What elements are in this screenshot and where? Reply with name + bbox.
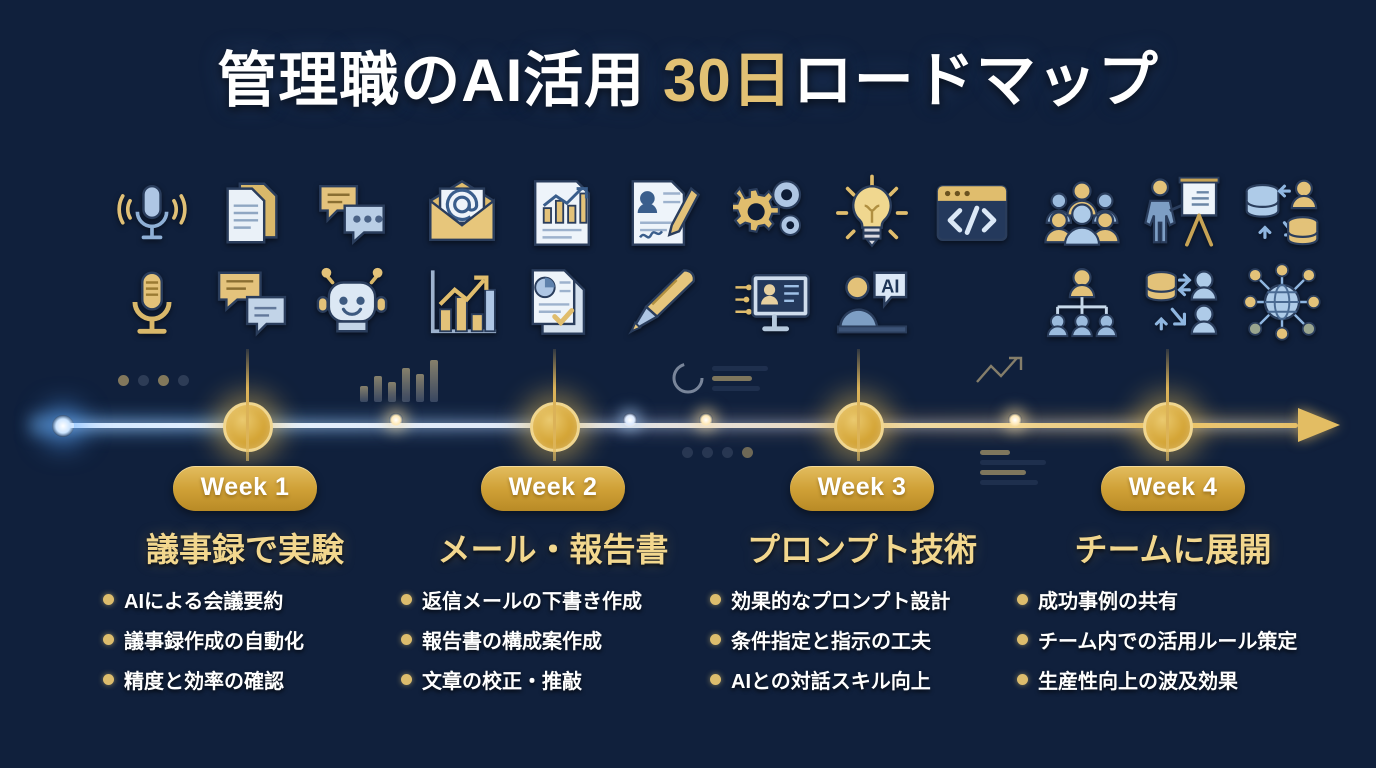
document-icon (209, 170, 295, 256)
timeline-node-week4[interactable] (1143, 402, 1193, 452)
database-user-icon (1239, 170, 1325, 256)
week-column-1: Week 1 議事録で実験 AIによる会議要約 議事録作成の自動化 精度と効率の… (85, 466, 405, 705)
list-item: 生産性向上の波及効果 (1017, 665, 1333, 694)
icon-clusters: AI (0, 168, 1376, 346)
chart-document-icon (519, 170, 605, 256)
presenter-board-icon (1139, 170, 1225, 256)
team-group-icon (1039, 170, 1125, 256)
microphone-gold-icon (109, 259, 195, 345)
week-badge-1[interactable]: Week 1 (173, 466, 318, 511)
code-window-icon (929, 170, 1015, 256)
list-item: 議事録作成の自動化 (103, 625, 405, 654)
title-part-before: 管理職のAI活用 (217, 47, 663, 114)
bullet-dot-icon (103, 634, 114, 645)
title-container: 管理職のAI活用 30日ロードマップ (0, 32, 1376, 119)
week-badge-3[interactable]: Week 3 (790, 466, 935, 511)
node-stem (857, 349, 860, 461)
bullet-dot-icon (1017, 674, 1028, 685)
bar-chart-arrow-icon (419, 259, 505, 345)
email-at-icon (419, 170, 505, 256)
deco-dots-left (118, 375, 189, 386)
week-badge-4[interactable]: Week 4 (1101, 466, 1246, 511)
svg-text:AI: AI (881, 275, 899, 296)
title-highlight: 30日 (663, 47, 793, 114)
icon-cluster-week3: AI (722, 168, 1022, 346)
timeline-spark (699, 413, 713, 427)
list-item: チーム内での活用ルール策定 (1017, 625, 1333, 654)
lightbulb-icon (829, 170, 915, 256)
list-item: 条件指定と指示の工夫 (710, 625, 1022, 654)
data-share-users-icon (1139, 259, 1225, 345)
bullet-dot-icon (401, 634, 412, 645)
node-stem (553, 349, 556, 461)
week-headline-1: 議事録で実験 (85, 523, 405, 571)
bullet-dot-icon (401, 594, 412, 605)
icon-cluster-week2 (412, 168, 712, 346)
bullet-text: 返信メールの下書き作成 (422, 585, 642, 614)
week-bullets-3: 効果的なプロンプト設計 条件指定と指示の工夫 AIとの対話スキル向上 (702, 585, 1022, 694)
week-headline-3: プロンプト技術 (702, 523, 1022, 571)
bullet-text: AIとの対話スキル向上 (731, 665, 931, 694)
node-stem (1166, 349, 1169, 461)
title-part-after: ロードマップ (793, 47, 1159, 114)
chat-bubbles-icon (309, 170, 395, 256)
bullet-text: AIによる会議要約 (124, 585, 283, 614)
pen-icon (619, 259, 705, 345)
bullet-text: 議事録作成の自動化 (124, 625, 304, 654)
week-columns: Week 1 議事録で実験 AIによる会議要約 議事録作成の自動化 精度と効率の… (0, 466, 1376, 726)
timeline (0, 404, 1376, 448)
bullet-text: 条件指定と指示の工夫 (731, 625, 931, 654)
deco-trend-arrow (975, 352, 1035, 393)
bullet-text: 精度と効率の確認 (124, 665, 284, 694)
week-headline-4: チームに展開 (1013, 523, 1333, 571)
timeline-node-week2[interactable] (530, 402, 580, 452)
list-item: 成功事例の共有 (1017, 585, 1333, 614)
week-column-3: Week 3 プロンプト技術 効果的なプロンプト設計 条件指定と指示の工夫 AI… (702, 466, 1022, 705)
icon-cluster-week4 (1032, 168, 1332, 346)
week-bullets-1: AIによる会議要約 議事録作成の自動化 精度と効率の確認 (85, 585, 405, 694)
arrow-right-icon (1298, 408, 1340, 442)
network-globe-icon (1239, 259, 1325, 345)
report-pie-check-icon (519, 259, 605, 345)
bullet-dot-icon (1017, 634, 1028, 645)
bullet-dot-icon (103, 674, 114, 685)
gears-icon (729, 170, 815, 256)
list-item: 返信メールの下書き作成 (401, 585, 713, 614)
bullet-dot-icon (401, 674, 412, 685)
monitor-profile-icon (729, 259, 815, 345)
timeline-start-dot (52, 415, 74, 437)
node-stem (246, 349, 249, 461)
bullet-text: 文章の校正・推敲 (422, 665, 582, 694)
icon-cluster-week1 (102, 168, 402, 346)
bullet-dot-icon (710, 634, 721, 645)
list-item: 報告書の構成案作成 (401, 625, 713, 654)
list-item: 精度と効率の確認 (103, 665, 405, 694)
signed-document-icon (619, 170, 705, 256)
list-item: 効果的なプロンプト設計 (710, 585, 1022, 614)
microphone-waves-icon (109, 170, 195, 256)
bullet-text: 効果的なプロンプト設計 (731, 585, 950, 614)
bullet-dot-icon (103, 594, 114, 605)
org-chart-icon (1039, 259, 1125, 345)
timeline-node-week3[interactable] (834, 402, 884, 452)
page-title: 管理職のAI活用 30日ロードマップ (217, 32, 1158, 119)
list-item: AIによる会議要約 (103, 585, 405, 614)
infographic-canvas: 管理職のAI活用 30日ロードマップ (0, 0, 1376, 768)
deco-ring (668, 358, 708, 403)
deco-dots-mid (682, 447, 753, 458)
bullet-text: チーム内での活用ルール策定 (1038, 625, 1297, 654)
bullet-dot-icon (710, 594, 721, 605)
bullet-text: 報告書の構成案作成 (422, 625, 602, 654)
week-column-4: Week 4 チームに展開 成功事例の共有 チーム内での活用ルール策定 生産性向… (1013, 466, 1333, 705)
week-bullets-2: 返信メールの下書き作成 報告書の構成案作成 文章の校正・推敲 (393, 585, 713, 694)
blank-icon (929, 259, 1015, 345)
week-badge-2[interactable]: Week 2 (481, 466, 626, 511)
bullet-text: 生産性向上の波及効果 (1038, 665, 1238, 694)
list-item: AIとの対話スキル向上 (710, 665, 1022, 694)
week-column-2: Week 2 メール・報告書 返信メールの下書き作成 報告書の構成案作成 文章の… (393, 466, 713, 705)
robot-icon (309, 259, 395, 345)
timeline-node-week1[interactable] (223, 402, 273, 452)
bullet-text: 成功事例の共有 (1038, 585, 1178, 614)
week-bullets-4: 成功事例の共有 チーム内での活用ルール策定 生産性向上の波及効果 (1013, 585, 1333, 694)
deco-lines-mid (712, 366, 772, 396)
list-item: 文章の校正・推敲 (401, 665, 713, 694)
week-headline-2: メール・報告書 (393, 523, 713, 571)
deco-minibars (360, 360, 438, 402)
person-ai-chat-icon: AI (829, 259, 915, 345)
bullet-dot-icon (1017, 594, 1028, 605)
chat-document-icon (209, 259, 295, 345)
bullet-dot-icon (710, 674, 721, 685)
